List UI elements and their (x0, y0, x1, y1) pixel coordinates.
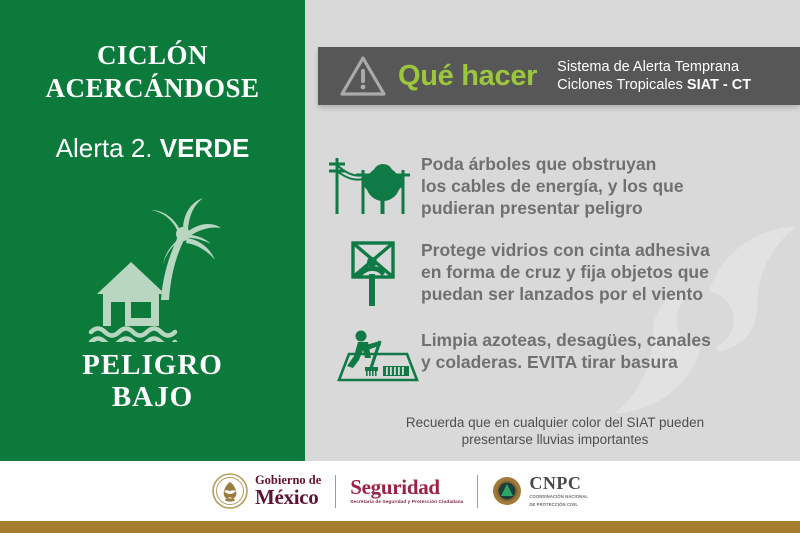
what-to-do-header: Qué hacer Sistema de Alerta Temprana Cic… (318, 47, 800, 105)
danger-level-line2: BAJO (0, 381, 305, 414)
warning-triangle-icon (340, 55, 386, 97)
alert-level-prefix: Alerta 2. (56, 133, 160, 163)
recommendation-item: Protege vidrios con cinta adhesiva en fo… (325, 238, 795, 308)
recommendation-line1: Protege vidrios con cinta adhesiva (421, 239, 710, 261)
system-name-block: Sistema de Alerta Temprana Ciclones Trop… (557, 58, 751, 94)
taped-window-icon (325, 238, 421, 308)
alert-level-panel: CICLÓN ACERCÁNDOSE Alerta 2. VERDE (0, 0, 305, 461)
footnote-text: Recuerda que en cualquier color del SIAT… (345, 414, 765, 448)
cnpc-logo: CNPC COORDINACIÓN NACIONAL DE PROTECCIÓN… (492, 474, 588, 507)
seguridad-small-text: Secretaría de Seguridad y Protección Ciu… (350, 500, 463, 505)
seguridad-logo: Seguridad Secretaría de Seguridad y Prot… (350, 477, 463, 505)
danger-level-line1: PELIGRO (0, 349, 305, 382)
house-palm-flood-icon (83, 192, 223, 342)
power-lines-tree-icon (325, 152, 421, 218)
gobierno-de-mexico-logo: Gobierno de México (212, 473, 321, 509)
recommendation-line2: y coladeras. EVITA tirar basura (421, 351, 711, 373)
recommendation-item: Limpia azoteas, desagües, canales y cola… (325, 328, 795, 386)
cnpc-acronym: CNPC (529, 474, 588, 492)
recommendation-line3: puedan ser lanzados por el viento (421, 283, 710, 305)
gobierno-text-block: Gobierno de México (255, 474, 321, 508)
footnote-line2: presentarse lluvias importantes (345, 431, 765, 448)
mexican-eagle-seal-icon (212, 473, 248, 509)
recommendation-item: Poda árboles que obstruyan los cables de… (325, 152, 795, 219)
system-name-line2-prefix: Ciclones Tropicales (557, 77, 687, 93)
logo-divider-2 (477, 475, 478, 508)
seguridad-big-text: Seguridad (350, 477, 463, 498)
hurricane-symbol-watermark (575, 190, 800, 450)
alert-level-color-name: VERDE (160, 133, 250, 163)
siat-ct-alert-poster: CICLÓN ACERCÁNDOSE Alerta 2. VERDE (0, 0, 800, 533)
recommendation-text: Poda árboles que obstruyan los cables de… (421, 152, 684, 219)
cnpc-full-name-line2: DE PROTECCIÓN CIVIL (529, 502, 588, 508)
recommendation-line2: los cables de energía, y los que (421, 175, 684, 197)
mexico-big-text: México (255, 487, 321, 508)
logo-divider-1 (335, 475, 336, 508)
alert-level-label: Alerta 2. VERDE (0, 133, 305, 164)
recommendation-line1: Poda árboles que obstruyan (421, 153, 684, 175)
cyclone-title-line2: ACERCÁNDOSE (0, 73, 305, 104)
institutional-logo-footer: Gobierno de México Seguridad Secretaría … (0, 461, 800, 521)
recommendation-line2: en forma de cruz y fija objetos que (421, 261, 710, 283)
siat-ct-acronym: SIAT - CT (687, 77, 751, 93)
footnote-line1: Recuerda que en cualquier color del SIAT… (345, 414, 765, 431)
recommendation-line1: Limpia azoteas, desagües, canales (421, 329, 711, 351)
bottom-accent-bar (0, 521, 800, 533)
cnpc-text-block: CNPC COORDINACIÓN NACIONAL DE PROTECCIÓN… (529, 474, 588, 507)
what-to-do-title: Qué hacer (398, 60, 537, 93)
roof-sweeping-drain-icon (325, 328, 421, 386)
system-name-line1: Sistema de Alerta Temprana (557, 58, 751, 76)
cnpc-full-name-line1: COORDINACIÓN NACIONAL (529, 494, 588, 500)
cnpc-seal-icon (492, 476, 522, 506)
recommendations-panel: Qué hacer Sistema de Alerta Temprana Cic… (305, 0, 800, 461)
recommendation-text: Protege vidrios con cinta adhesiva en fo… (421, 238, 710, 305)
recommendation-line3: pudieran presentar peligro (421, 197, 684, 219)
cyclone-title-line1: CICLÓN (0, 40, 305, 71)
system-name-line2: Ciclones Tropicales SIAT - CT (557, 76, 751, 94)
recommendation-text: Limpia azoteas, desagües, canales y cola… (421, 328, 711, 373)
